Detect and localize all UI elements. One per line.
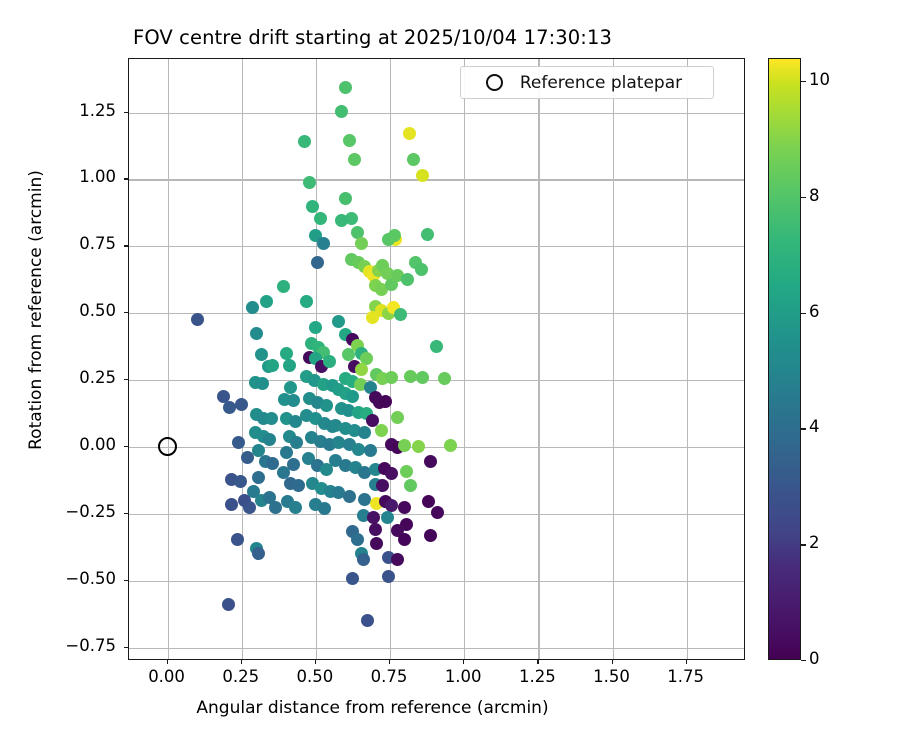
legend-entry-label: Reference platepar	[503, 73, 713, 93]
y-tick-label: −0.50	[0, 569, 116, 588]
x-tick-label: 1.50	[577, 667, 647, 686]
y-tick	[124, 513, 128, 514]
x-tick	[537, 660, 538, 664]
x-tick	[315, 660, 316, 664]
colorbar-tick	[801, 544, 806, 545]
x-axis-label: Angular distance from reference (arcmin)	[0, 698, 745, 718]
colorbar-tick-label: 0	[809, 649, 820, 668]
x-tick	[463, 660, 464, 664]
x-tick-label: 0.50	[280, 667, 350, 686]
y-tick-label: 0.25	[0, 368, 116, 387]
x-tick	[612, 660, 613, 664]
y-tick	[124, 647, 128, 648]
y-tick-label: 1.25	[0, 101, 116, 120]
x-tick-label: 1.75	[651, 667, 721, 686]
legend: Reference platepar	[460, 66, 714, 99]
y-tick	[124, 379, 128, 380]
y-tick-label: 0.50	[0, 301, 116, 320]
colorbar	[768, 58, 801, 660]
y-tick	[124, 312, 128, 313]
x-tick	[241, 660, 242, 664]
y-tick-label: 1.00	[0, 167, 116, 186]
x-tick	[389, 660, 390, 664]
colorbar-tick-label: 4	[809, 417, 820, 436]
colorbar-gradient	[768, 58, 801, 660]
x-tick-label: 1.25	[502, 667, 572, 686]
x-tick-label: 0.00	[132, 667, 202, 686]
reference-platepar-marker	[158, 437, 177, 456]
y-tick-label: −0.25	[0, 502, 116, 521]
colorbar-tick	[801, 313, 806, 314]
colorbar-tick-label: 10	[809, 70, 830, 89]
y-axis-label: Rotation from reference (arcmin)	[26, 9, 46, 611]
page-title: FOV centre drift starting at 2025/10/04 …	[0, 26, 745, 49]
colorbar-tick-label: 6	[809, 302, 820, 321]
y-tick	[124, 178, 128, 179]
colorbar-tick-label: 8	[809, 186, 820, 205]
reference-marker-layer	[129, 59, 744, 659]
y-tick	[124, 245, 128, 246]
colorbar-tick	[801, 660, 806, 661]
y-tick	[124, 112, 128, 113]
x-tick-label: 1.00	[428, 667, 498, 686]
x-tick	[167, 660, 168, 664]
y-tick	[124, 446, 128, 447]
plot-area	[128, 58, 745, 660]
colorbar-tick-label: 2	[809, 533, 820, 552]
colorbar-tick	[801, 197, 806, 198]
colorbar-tick	[801, 428, 806, 429]
chart-root: FOV centre drift starting at 2025/10/04 …	[0, 0, 900, 750]
x-tick-label: 0.75	[354, 667, 424, 686]
x-tick	[686, 660, 687, 664]
colorbar-tick	[801, 81, 806, 82]
x-tick-label: 0.25	[206, 667, 276, 686]
y-tick-label: −0.75	[0, 636, 116, 655]
y-tick	[124, 580, 128, 581]
legend-marker-open-circle-icon	[486, 74, 503, 91]
y-tick-label: 0.75	[0, 234, 116, 253]
y-tick-label: 0.00	[0, 435, 116, 454]
